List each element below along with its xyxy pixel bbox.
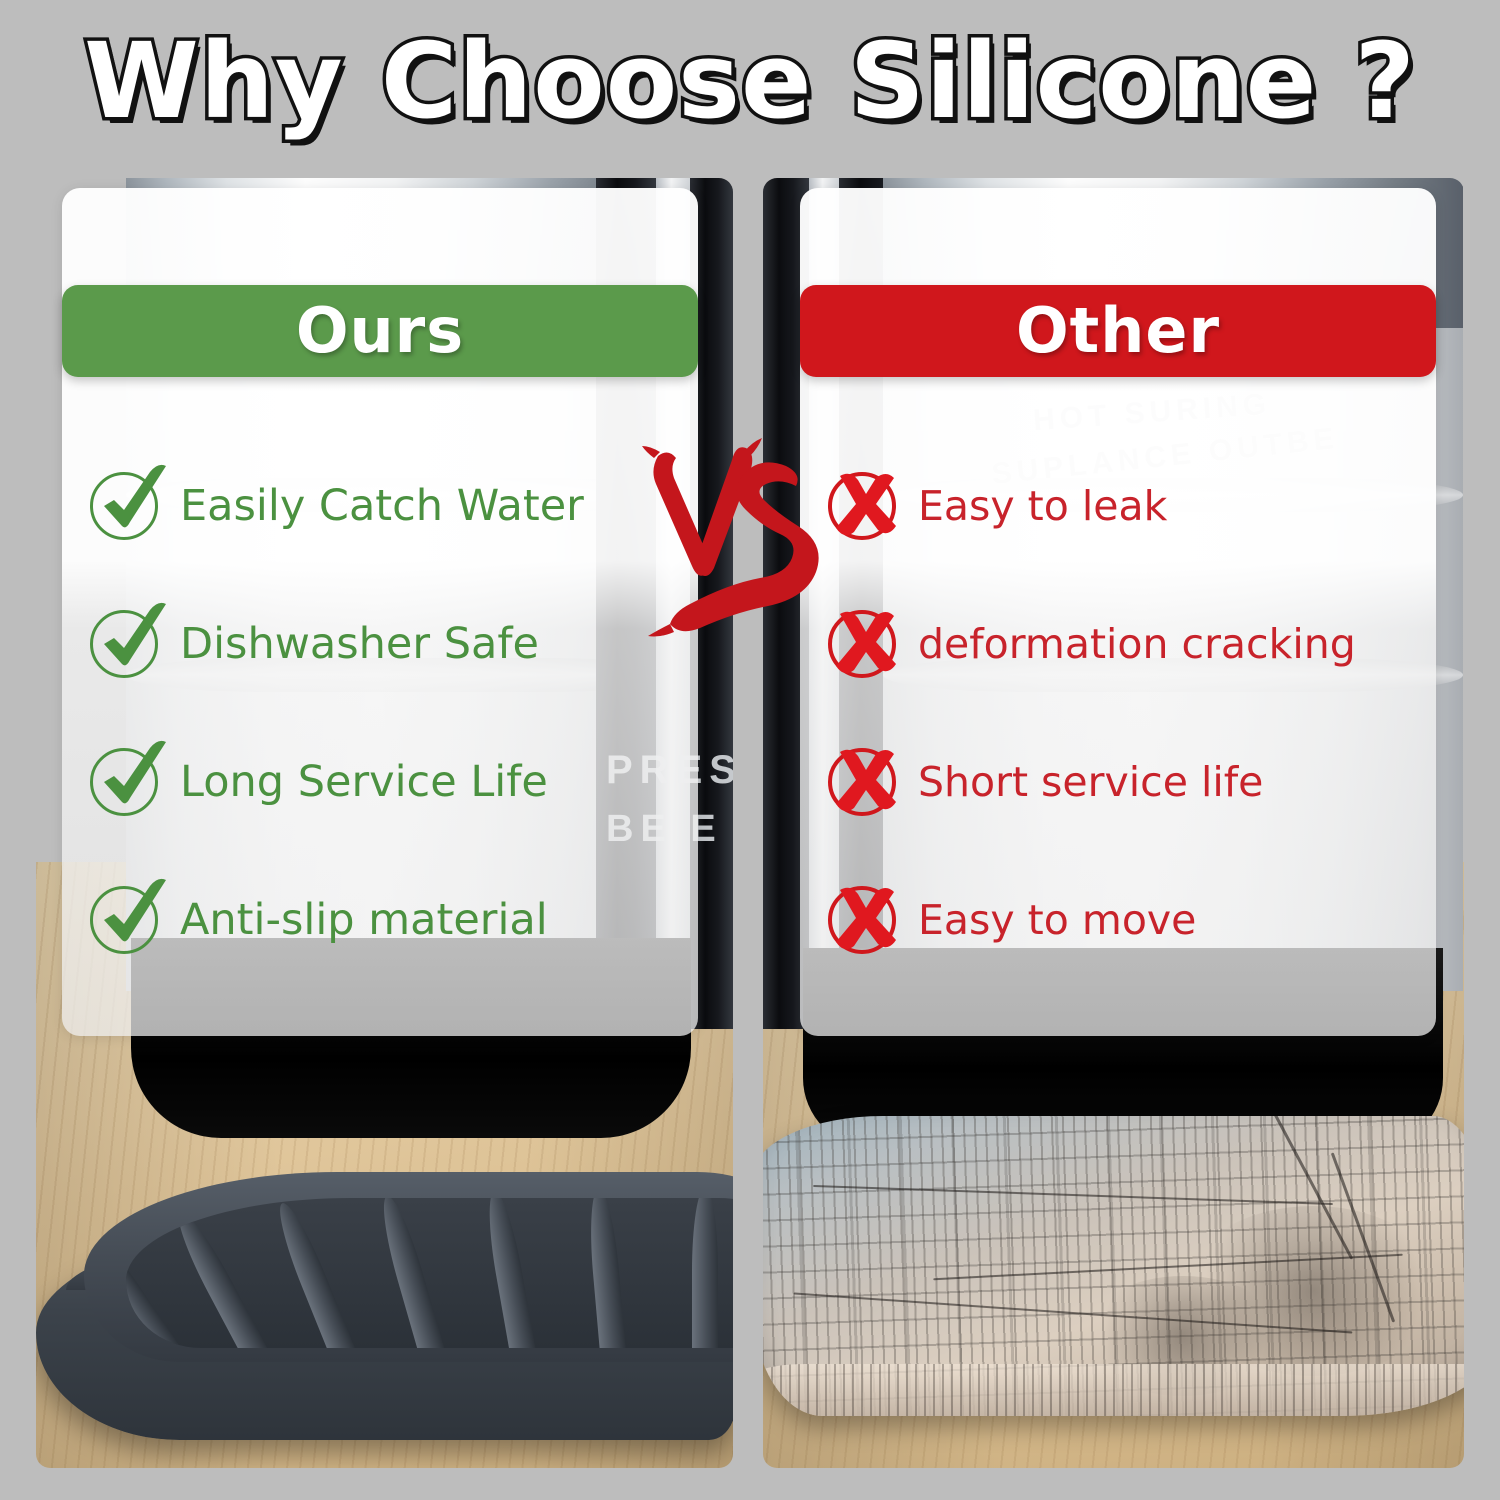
- check-circle-icon: [88, 744, 166, 822]
- title-bar: Why Choose Silicone ?: [0, 22, 1500, 140]
- feature-label: Long Service Life: [180, 760, 548, 805]
- feature-row: Short service life: [800, 714, 1436, 852]
- feature-label: Anti-slip material: [180, 898, 548, 943]
- feature-label: Easy to leak: [918, 485, 1167, 528]
- feature-label: Dishwasher Safe: [180, 622, 539, 667]
- feature-row: Easy to move: [800, 852, 1436, 990]
- banner-label-other: Other: [1016, 300, 1220, 362]
- check-circle-icon: [88, 606, 166, 684]
- feature-label: Short service life: [918, 761, 1263, 804]
- x-circle-icon: [826, 882, 904, 960]
- feature-list-ours: Easily Catch Water Dishwasher Safe Long …: [62, 438, 698, 990]
- feature-row: Long Service Life: [62, 714, 698, 852]
- worn-cloth-mat-photo: [763, 1116, 1464, 1416]
- feature-list-other: Easy to leak deformation cracking Short …: [800, 438, 1436, 990]
- feature-row: Dishwasher Safe: [62, 576, 698, 714]
- check-circle-icon: [88, 468, 166, 546]
- page-title: Why Choose Silicone ?: [84, 29, 1416, 133]
- feature-row: Easy to leak: [800, 438, 1436, 576]
- feature-row: Easily Catch Water: [62, 438, 698, 576]
- feature-row: Anti-slip material: [62, 852, 698, 990]
- x-circle-icon: [826, 744, 904, 822]
- feature-label: Easy to move: [918, 899, 1196, 942]
- feature-label: deformation cracking: [918, 623, 1356, 666]
- banner-other: Other: [800, 285, 1436, 377]
- check-circle-icon: [88, 882, 166, 960]
- silicone-drip-tray-photo: [36, 1120, 733, 1440]
- x-circle-icon: [826, 606, 904, 684]
- feature-row: deformation cracking: [800, 576, 1436, 714]
- banner-label-ours: Ours: [296, 300, 464, 362]
- banner-ours: Ours: [62, 285, 698, 377]
- x-circle-icon: [826, 468, 904, 546]
- feature-label: Easily Catch Water: [180, 484, 584, 529]
